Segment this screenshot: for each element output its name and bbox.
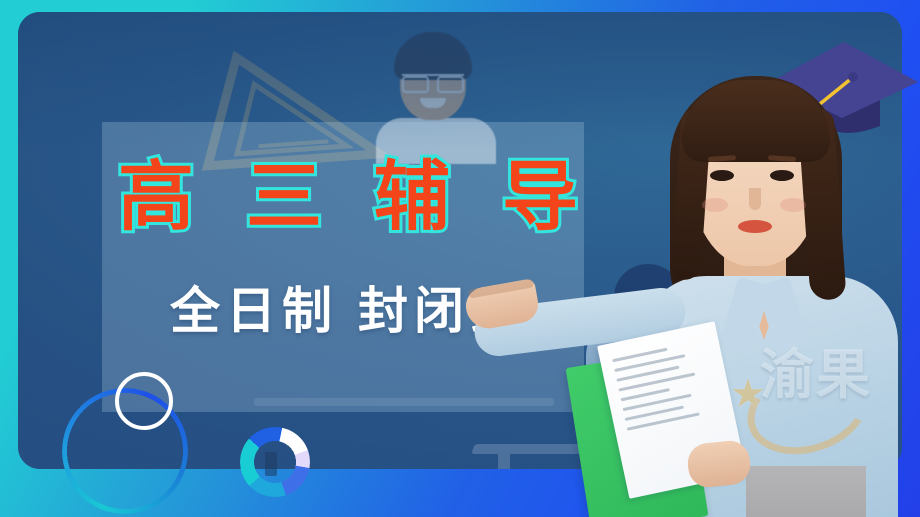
headline-char-3: 辅 [374, 160, 450, 236]
page-title: 高 三 辅 导 [118, 160, 578, 236]
female-presenter-photo [596, 58, 920, 517]
headline-char-1: 高 [118, 160, 194, 236]
headline-char-2: 三 [246, 160, 322, 236]
education-banner: 高 三 辅 导 全日制 封闭式 [0, 0, 920, 517]
headline-char-4: 导 [502, 160, 578, 236]
decorative-ring-donut-chip [265, 452, 277, 476]
decorative-ring-small [115, 372, 173, 430]
